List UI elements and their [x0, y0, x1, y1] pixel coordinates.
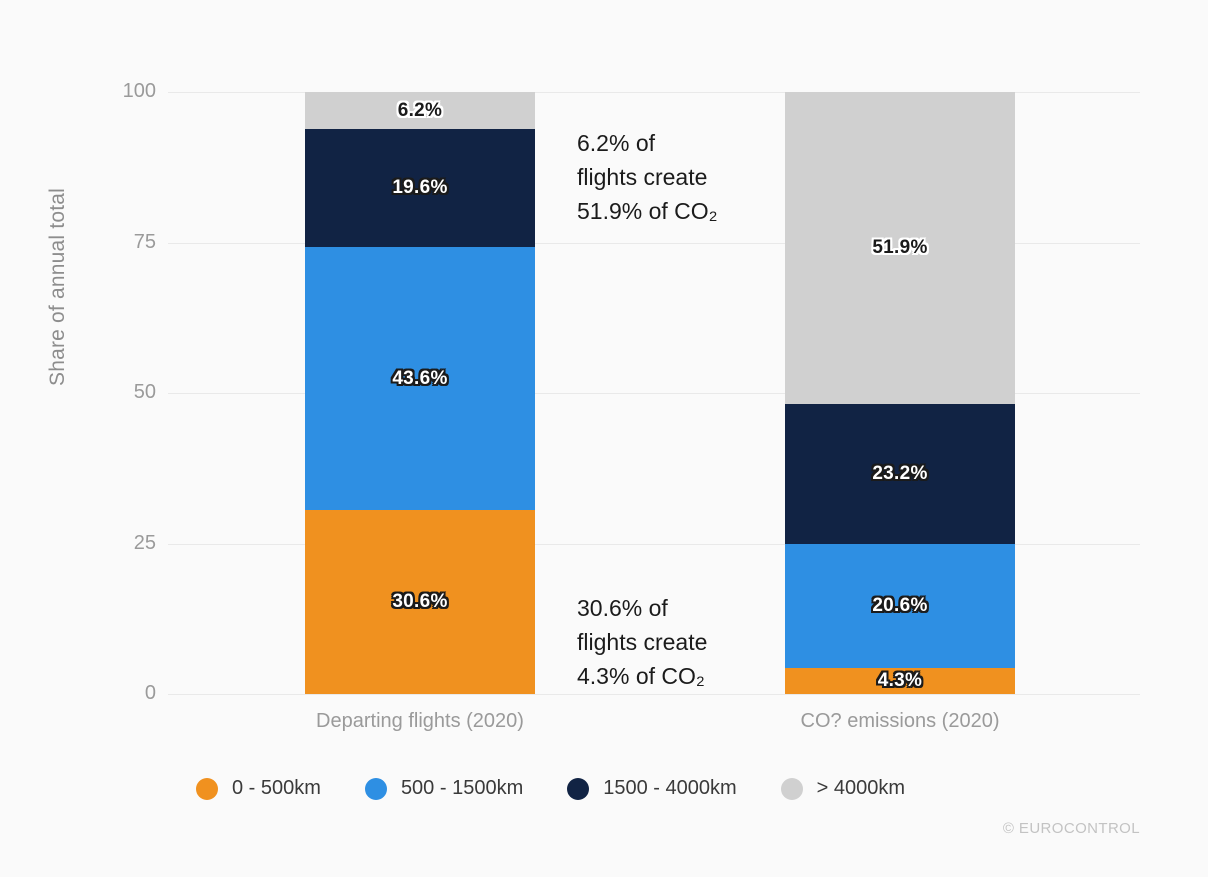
bar-segment-value-label: 19.6%: [392, 177, 447, 199]
y-tick-label-50: 50: [96, 381, 156, 404]
bar-departing-flights: 6.2%19.6%43.6%30.6%: [305, 92, 535, 694]
bar-segment-departing-flights-1500-4000km[interactable]: 19.6%: [305, 129, 535, 247]
bar-segment-co2-emissions-4000km[interactable]: 51.9%: [785, 92, 1015, 404]
bar-segment-value-label: 4.3%: [878, 670, 923, 692]
legend: 0 - 500km500 - 1500km1500 - 4000km> 4000…: [196, 777, 949, 800]
y-axis-title: Share of annual total: [46, 167, 70, 407]
x-tick-label-departing-flights: Departing flights (2020): [220, 710, 620, 733]
bar-segment-value-label: 23.2%: [872, 463, 927, 485]
circle-swatch: [196, 778, 218, 800]
bar-co2-emissions: 51.9%23.2%20.6%4.3%: [785, 92, 1015, 694]
legend-item-1500-4000km[interactable]: 1500 - 4000km: [567, 777, 736, 800]
copyright-credit: © EUROCONTROL: [1003, 820, 1140, 837]
circle-swatch: [567, 778, 589, 800]
bar-segment-value-label: 20.6%: [872, 595, 927, 617]
bar-segment-value-label: 51.9%: [872, 237, 927, 259]
bar-segment-value-label: 30.6%: [392, 591, 447, 613]
bar-segment-co2-emissions-0-500km[interactable]: 4.3%: [785, 668, 1015, 694]
legend-item-label: 1500 - 4000km: [603, 777, 736, 800]
legend-item-500-1500km[interactable]: 500 - 1500km: [365, 777, 523, 800]
annotation-top: 6.2% of flights create 51.9% of CO₂: [577, 126, 718, 228]
y-tick-label-0: 0: [96, 682, 156, 705]
bar-segment-departing-flights-500-1500km[interactable]: 43.6%: [305, 247, 535, 509]
annotation-bottom: 30.6% of flights create 4.3% of CO₂: [577, 591, 707, 693]
bar-segment-value-label: 43.6%: [392, 368, 447, 390]
bar-segment-departing-flights-0-500km[interactable]: 30.6%: [305, 510, 535, 694]
bar-segment-value-label: 6.2%: [398, 100, 443, 122]
x-tick-label-co2-emissions: CO? emissions (2020): [700, 710, 1100, 733]
bar-segment-co2-emissions-500-1500km[interactable]: 20.6%: [785, 544, 1015, 668]
gridline-0: [168, 694, 1140, 695]
circle-swatch: [365, 778, 387, 800]
legend-item-0-500km[interactable]: 0 - 500km: [196, 777, 321, 800]
circle-swatch: [781, 778, 803, 800]
legend-item-4000km[interactable]: > 4000km: [781, 777, 905, 800]
legend-item-label: 0 - 500km: [232, 777, 321, 800]
bar-segment-co2-emissions-1500-4000km[interactable]: 23.2%: [785, 404, 1015, 544]
y-tick-label-100: 100: [96, 80, 156, 103]
bar-segment-departing-flights-4000km[interactable]: 6.2%: [305, 92, 535, 129]
legend-item-label: > 4000km: [817, 777, 905, 800]
stacked-bar-chart: Share of annual total 1007550250 6.2%19.…: [0, 0, 1208, 877]
legend-item-label: 500 - 1500km: [401, 777, 523, 800]
y-tick-label-25: 25: [96, 532, 156, 555]
y-tick-label-75: 75: [96, 231, 156, 254]
